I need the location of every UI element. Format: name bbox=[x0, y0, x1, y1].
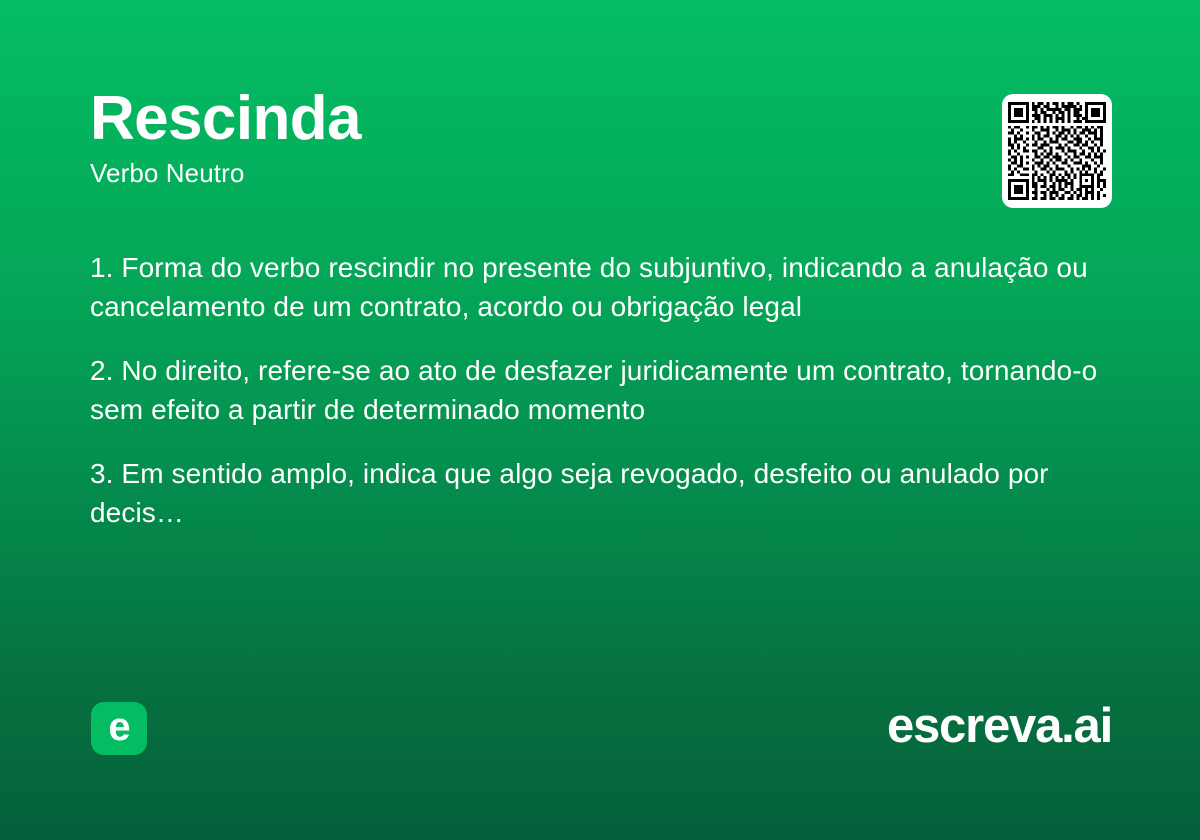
escreva-logo-icon[interactable]: e bbox=[91, 702, 147, 755]
card-header: Rescinda Verbo Neutro bbox=[90, 86, 970, 188]
definition-item: 1. Forma do verbo rescindir no presente … bbox=[90, 248, 1100, 326]
qr-code-icon bbox=[1008, 102, 1106, 200]
card-footer: e escreva.ai bbox=[0, 690, 1200, 840]
definition-list: 1. Forma do verbo rescindir no presente … bbox=[90, 248, 1100, 532]
word-definition-card: Rescinda Verbo Neutro bbox=[0, 0, 1200, 840]
definition-item: 3. Em sentido amplo, indica que algo sej… bbox=[90, 454, 1100, 532]
page-title: Rescinda bbox=[90, 86, 970, 152]
definition-item: 2. No direito, refere-se ao ato de desfa… bbox=[90, 351, 1100, 429]
brand-wordmark: escreva.ai bbox=[887, 696, 1112, 756]
word-class-label: Verbo Neutro bbox=[90, 158, 970, 188]
logo-letter: e bbox=[108, 707, 129, 747]
qr-code-panel[interactable] bbox=[1002, 94, 1112, 208]
